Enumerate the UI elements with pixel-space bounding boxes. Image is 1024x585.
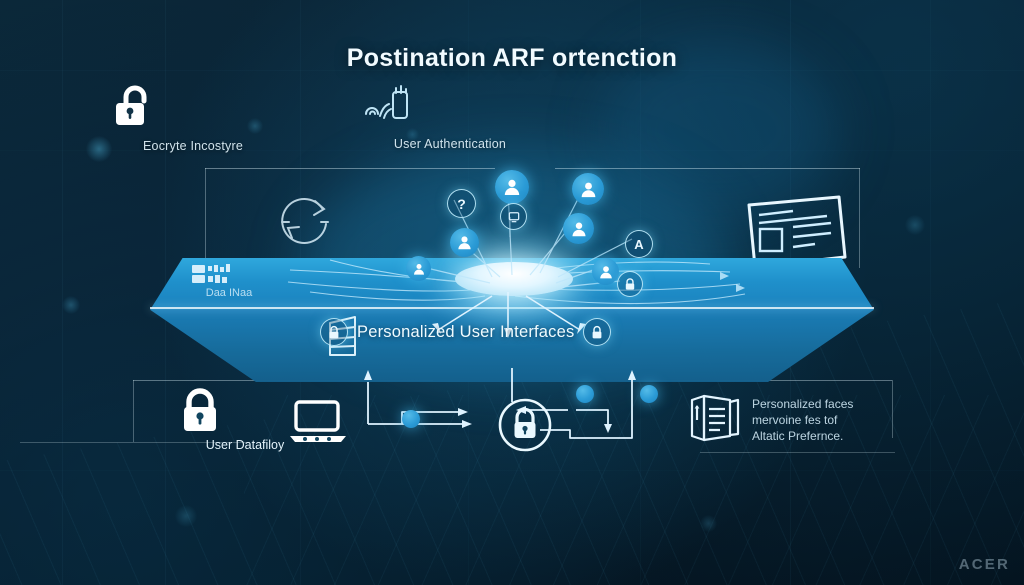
lock-circle-icon	[320, 318, 348, 346]
bottom-label-right-text: Personalized facesmervoine fes tofAltati…	[752, 396, 853, 444]
platform-data-label: Daa INaa	[190, 287, 268, 299]
flow-node[interactable]	[640, 385, 658, 403]
closed-padlock-icon	[175, 388, 315, 436]
user-avatar-node[interactable]	[572, 173, 604, 205]
user-avatar-node[interactable]	[563, 213, 594, 244]
bottom-label-left[interactable]: User Datafiloy	[175, 388, 315, 450]
user-avatar-node[interactable]	[406, 256, 431, 281]
infographic-canvas: Postination ARF ortenction Eocryte Incos…	[0, 0, 1024, 585]
label-node-?[interactable]: ?	[447, 189, 476, 218]
flow-node[interactable]	[576, 385, 594, 403]
fingerprint-auth-icon	[360, 84, 540, 130]
bottom-label-left-text: User Datafiloy	[175, 438, 315, 452]
documents-stack-icon	[686, 392, 744, 446]
bottom-label-right-line: Altatic Prefernce.	[752, 428, 853, 444]
user-avatar-node[interactable]	[495, 170, 529, 204]
user-avatar-node[interactable]	[450, 228, 479, 257]
page-title: Postination ARF ortenction	[0, 44, 1024, 73]
feature-encryption[interactable]: Eocryte Incostyre	[108, 82, 278, 153]
bottom-label-right-line: Personalized faces	[752, 396, 853, 412]
flow-node[interactable]	[402, 410, 420, 428]
open-padlock-icon	[108, 82, 278, 132]
feature-authentication[interactable]: User Authentication	[360, 84, 540, 151]
personalized-interfaces-label: Personalized User Interfaces	[357, 323, 574, 342]
lock-circle-icon[interactable]	[496, 396, 554, 454]
label-node-A[interactable]: A	[625, 230, 653, 258]
user-avatar-node[interactable]	[592, 258, 619, 285]
feature-encryption-label: Eocryte Incostyre	[108, 139, 278, 153]
lock-circle-icon	[583, 318, 611, 346]
lock-node-icon[interactable]	[617, 271, 643, 297]
bottom-label-right-line: mervoine fes tof	[752, 412, 853, 428]
feature-authentication-label: User Authentication	[360, 137, 540, 151]
data-blocks-icon	[190, 262, 268, 286]
watermark: ACER	[959, 556, 1010, 573]
personalized-interfaces-row[interactable]: Personalized User Interfaces	[320, 318, 611, 346]
device-node-icon[interactable]	[500, 203, 527, 230]
platform-data-label-group: Daa INaa	[190, 262, 268, 299]
